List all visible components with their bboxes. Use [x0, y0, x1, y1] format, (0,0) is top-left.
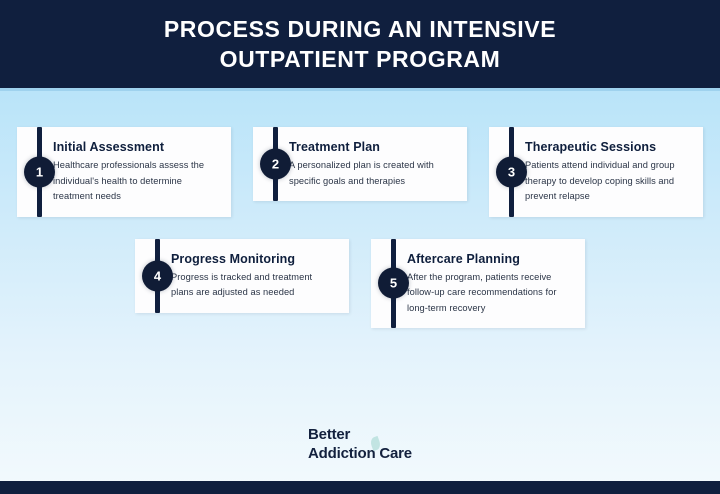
step-card-5-description: After the program, patients receive foll… [407, 270, 572, 317]
footer-bar [0, 481, 720, 494]
step-card-1-description: Healthcare professionals assess the indi… [53, 158, 218, 205]
step-3-number-badge: 3 [496, 156, 527, 187]
brand-logo-line-2: Addiction Care [308, 444, 412, 463]
step-card-3-description: Patients attend individual and group the… [525, 158, 690, 205]
step-2-number-badge: 2 [260, 149, 291, 180]
step-1-number-badge: 1 [24, 156, 55, 187]
step-card-4-title: Progress Monitoring [171, 251, 336, 267]
step-card-5-title: Aftercare Planning [407, 251, 572, 267]
brand-logo-inner: Better Addiction Care [308, 425, 412, 463]
brand-logo-line-1: Better [308, 425, 412, 444]
steps-row-bottom: Progress Monitoring Progress is tracked … [0, 217, 720, 329]
step-card-3[interactable]: Therapeutic Sessions Patients attend ind… [489, 127, 703, 217]
step-card-1-title: Initial Assessment [53, 139, 218, 155]
steps-container: Initial Assessment Healthcare profession… [0, 95, 720, 328]
step-card-1[interactable]: Initial Assessment Healthcare profession… [17, 127, 231, 217]
header-banner: PROCESS DURING AN INTENSIVE OUTPATIENT P… [0, 0, 720, 88]
step-card-4[interactable]: Progress Monitoring Progress is tracked … [135, 239, 349, 313]
step-card-2[interactable]: Treatment Plan A personalized plan is cr… [253, 127, 467, 201]
step-card-4-description: Progress is tracked and treatment plans … [171, 270, 336, 301]
step-card-2-description: A personalized plan is created with spec… [289, 158, 454, 189]
brand-logo[interactable]: Better Addiction Care [0, 425, 720, 463]
step-card-3-title: Therapeutic Sessions [525, 139, 690, 155]
step-card-2-title: Treatment Plan [289, 139, 454, 155]
step-5-number-badge: 5 [378, 268, 409, 299]
infographic-page: PROCESS DURING AN INTENSIVE OUTPATIENT P… [0, 0, 720, 494]
header-underline [0, 88, 720, 91]
step-card-5[interactable]: Aftercare Planning After the program, pa… [371, 239, 585, 329]
steps-row-top: Initial Assessment Healthcare profession… [0, 95, 720, 217]
step-4-number-badge: 4 [142, 260, 173, 291]
page-title-line-2: OUTPATIENT PROGRAM [220, 44, 501, 74]
page-title-line-1: PROCESS DURING AN INTENSIVE [164, 14, 556, 44]
